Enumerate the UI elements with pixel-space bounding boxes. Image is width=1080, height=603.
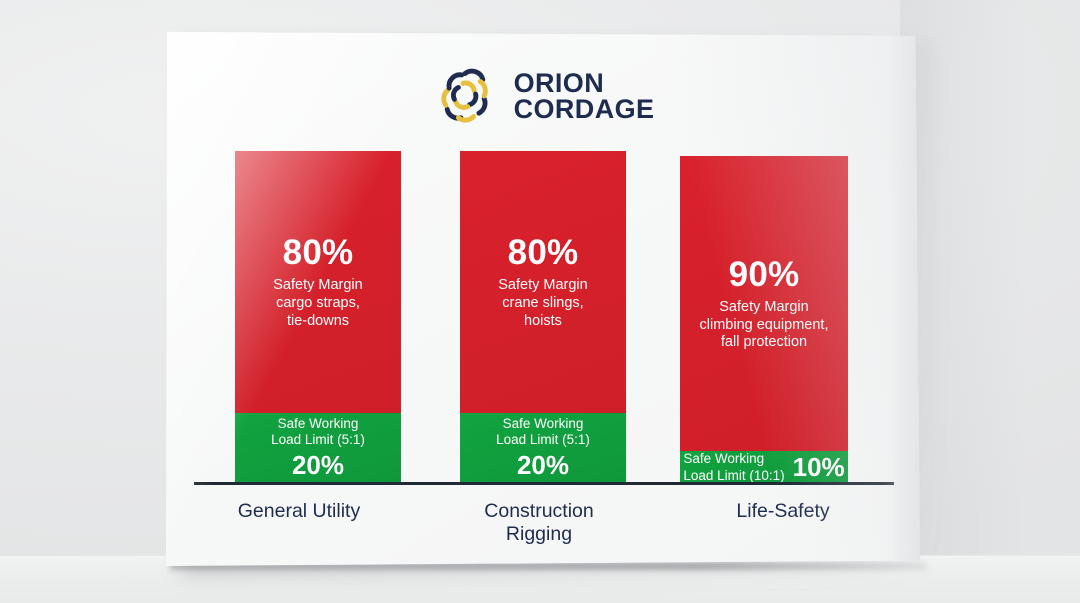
safety-margin-label: Safety Margin climbing equipment, fall p…	[700, 299, 829, 352]
safety-margin-title: Safety Margin	[498, 277, 587, 295]
swl-label-line1: Safe Working	[278, 416, 359, 431]
swl-label: Safe Working Load Limit (10:1)	[683, 451, 784, 483]
bar-segment-safe-working-load: Safe Working Load Limit (10:1) 10%	[680, 451, 848, 484]
swl-label-line2: Load Limit (5:1)	[271, 432, 365, 447]
bar-segment-safety-margin: 80% Safety Margin crane slings, hoists	[460, 151, 626, 413]
safety-margin-detail-1: crane slings,	[498, 295, 587, 313]
safety-margin-detail-2: fall protection	[700, 334, 829, 352]
safety-margin-title: Safety Margin	[273, 277, 362, 295]
bar-segment-safety-margin: 90% Safety Margin climbing equipment, fa…	[680, 156, 848, 451]
category-label-line2: Rigging	[506, 523, 572, 545]
category-label-row: General Utility Construction Rigging Lif…	[166, 492, 920, 546]
swl-label-line2: Load Limit (5:1)	[496, 432, 590, 447]
swl-label: Safe Working Load Limit (5:1)	[271, 416, 365, 448]
safety-margin-percent: 80%	[283, 233, 354, 273]
swl-label-line1: Safe Working	[503, 416, 584, 431]
swl-inline: Safe Working Load Limit (10:1) 10%	[680, 451, 848, 484]
bar-segment-safe-working-load: Safe Working Load Limit (5:1) 20%	[235, 413, 401, 482]
safety-margin-detail-1: cargo straps,	[273, 295, 362, 313]
swl-percent: 10%	[793, 452, 845, 483]
category-label-line1: Construction	[484, 500, 593, 522]
stacked-bar-chart: 80% Safety Margin cargo straps, tie-down…	[166, 30, 920, 566]
bar-group-life-safety: 90% Safety Margin climbing equipment, fa…	[680, 156, 848, 484]
safety-margin-label: Safety Margin crane slings, hoists	[498, 277, 587, 330]
bar-group-general-utility: 80% Safety Margin cargo straps, tie-down…	[235, 151, 401, 482]
category-label-construction-rigging: Construction Rigging	[432, 492, 646, 546]
safety-margin-percent: 90%	[729, 255, 800, 295]
bar-group-construction-rigging: 80% Safety Margin crane slings, hoists S…	[460, 151, 626, 482]
safety-margin-detail-1: climbing equipment,	[700, 317, 829, 335]
category-label-line1: General Utility	[238, 500, 360, 522]
category-label-line1: Life-Safety	[736, 500, 829, 522]
safety-margin-detail-2: tie-downs	[273, 313, 362, 331]
swl-stack: Safe Working Load Limit (5:1) 20%	[460, 413, 626, 482]
swl-stack: Safe Working Load Limit (5:1) 20%	[235, 413, 401, 482]
safety-margin-label: Safety Margin cargo straps, tie-downs	[273, 277, 362, 330]
poster-scene: ORION CORDAGE 80% Safety Margin cargo st…	[0, 0, 1080, 603]
swl-percent: 20%	[517, 450, 569, 481]
chart-baseline-axis	[194, 482, 894, 485]
safety-margin-title: Safety Margin	[700, 299, 829, 317]
safety-margin-percent: 80%	[508, 233, 579, 273]
bar-segment-safe-working-load: Safe Working Load Limit (5:1) 20%	[460, 413, 626, 482]
swl-label: Safe Working Load Limit (5:1)	[496, 416, 590, 448]
swl-percent: 20%	[292, 450, 344, 481]
swl-label-line2: Load Limit (10:1)	[683, 468, 784, 483]
infographic-poster: ORION CORDAGE 80% Safety Margin cargo st…	[166, 30, 920, 566]
bar-segment-safety-margin: 80% Safety Margin cargo straps, tie-down…	[235, 151, 401, 413]
category-label-general-utility: General Utility	[166, 492, 432, 546]
swl-label-line1: Safe Working	[683, 451, 764, 466]
category-label-life-safety: Life-Safety	[646, 492, 920, 546]
safety-margin-detail-2: hoists	[498, 313, 587, 331]
